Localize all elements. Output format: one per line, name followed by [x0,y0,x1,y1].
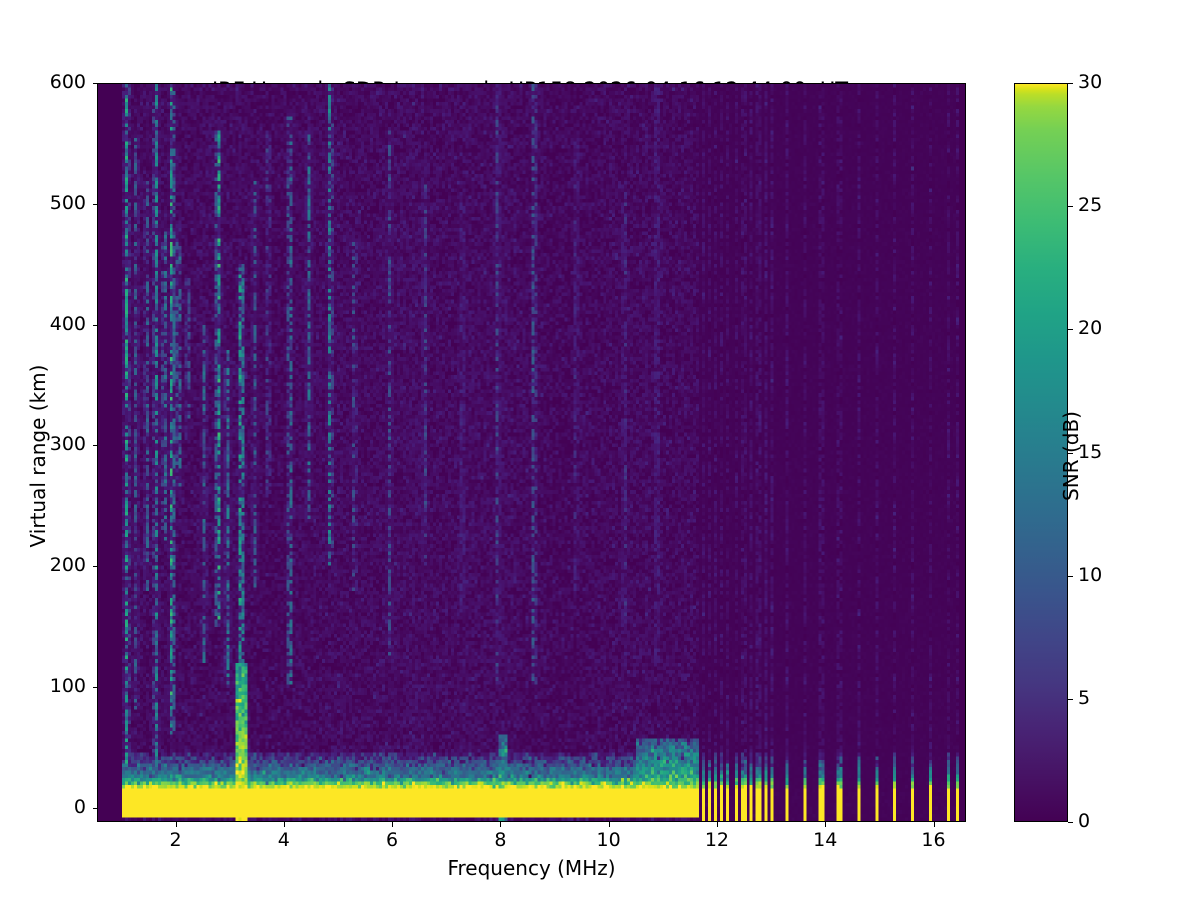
colorbar-tick-mark [1068,206,1073,207]
ionogram-figure: IRF Uppsala SDR Ionosonde UP158 2026-04-… [0,0,1200,900]
x-axis-label: Frequency (MHz) [97,856,966,880]
colorbar-tick-label: 25 [1078,195,1102,215]
y-tick-mark [93,204,98,205]
x-tick-label: 12 [687,829,747,851]
x-tick-mark [609,822,610,827]
colorbar-label: SNR (dB) [1059,296,1083,616]
y-axis-label: Virtual range (km) [26,76,50,836]
x-tick-mark [284,822,285,827]
y-tick-mark [93,808,98,809]
x-tick-mark [392,822,393,827]
y-tick-mark [93,83,98,84]
colorbar-tick-label: 5 [1078,688,1090,708]
x-tick-label: 8 [470,829,530,851]
ionogram-heatmap [98,84,965,821]
x-tick-label: 6 [362,829,422,851]
y-tick-mark [93,445,98,446]
colorbar-tick-mark [1068,83,1073,84]
y-tick-mark [93,687,98,688]
x-tick-label: 10 [579,829,639,851]
x-tick-mark [500,822,501,827]
x-tick-mark [934,822,935,827]
x-tick-label: 4 [254,829,314,851]
x-tick-mark [176,822,177,827]
colorbar-tick-mark [1068,822,1073,823]
x-tick-mark [825,822,826,827]
y-tick-mark [93,566,98,567]
y-tick-mark [93,325,98,326]
x-tick-label: 2 [146,829,206,851]
x-tick-label: 14 [795,829,855,851]
colorbar-tick-label: 0 [1078,811,1090,831]
x-tick-mark [717,822,718,827]
colorbar-tick-mark [1068,699,1073,700]
x-tick-label: 16 [904,829,964,851]
colorbar-tick-label: 30 [1078,72,1102,92]
ionogram-plot-area[interactable] [97,83,966,822]
